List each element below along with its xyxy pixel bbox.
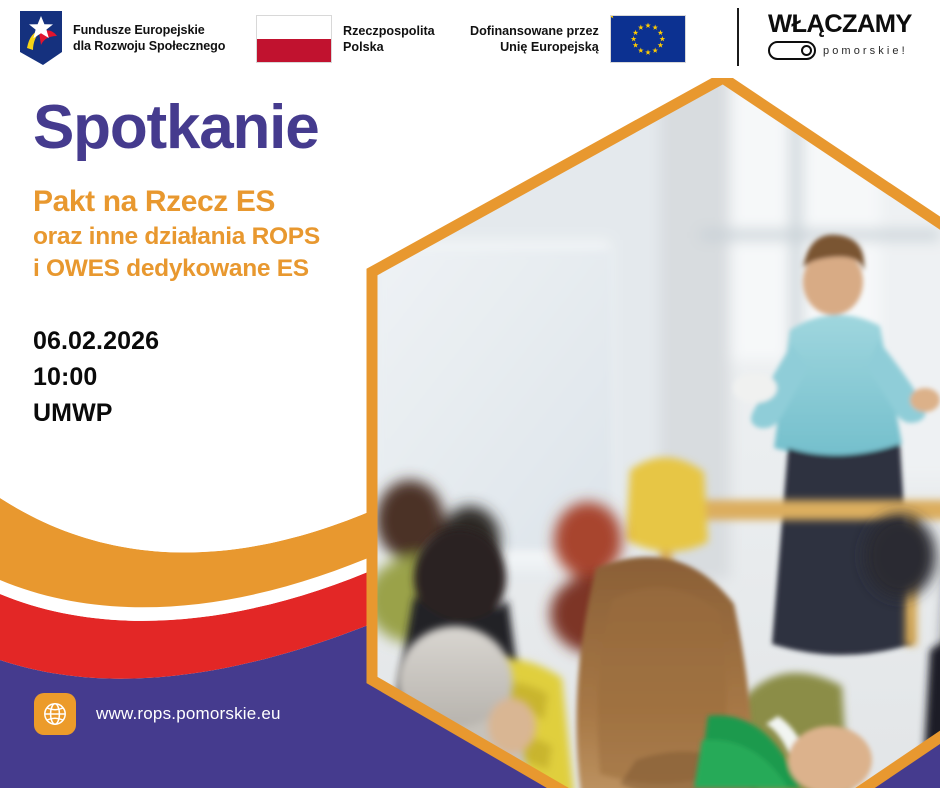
wlaczamy-wordmark: WŁĄCZAMY [768, 12, 927, 37]
eu-line2: Unię Europejską [470, 39, 599, 55]
logo-unia-europejska-text: Dofinansowane przez Unię Europejską [470, 23, 599, 55]
toggle-switch-icon [768, 41, 816, 60]
logo-fundusze-europejskie: Fundusze Europejskie dla Rozwoju Społecz… [18, 10, 225, 66]
logo-rzeczpospolita-polska-text: Rzeczpospolita Polska [343, 23, 435, 55]
logo-wlaczamy-pomorskie: WŁĄCZAMY pomorskie! [768, 12, 924, 60]
subtitle-primary: Pakt na Rzecz ES [33, 186, 383, 218]
logo-rzeczpospolita-polska: Rzeczpospolita Polska [256, 15, 435, 63]
fundusze-europejskie-mark [18, 10, 64, 66]
text-column: Spotkanie Pakt na Rzecz ES oraz inne dzi… [33, 96, 383, 431]
poster-canvas: Fundusze Europejskie dla Rozwoju Społecz… [0, 0, 940, 788]
pl-line1: Rzeczpospolita [343, 23, 435, 39]
globe-icon-glyph [42, 701, 68, 727]
website-url[interactable]: www.rops.pomorskie.eu [96, 704, 281, 724]
eu-stars [611, 16, 685, 62]
footer-website[interactable]: www.rops.pomorskie.eu [34, 693, 281, 735]
wlaczamy-toggle-row: pomorskie! [768, 41, 924, 60]
pomorskie-label: pomorskie! [823, 45, 908, 57]
eu-flag-icon [610, 15, 686, 63]
event-details: 06.02.2026 10:00 UMWP [33, 323, 383, 431]
poland-flag-white-stripe [257, 16, 331, 39]
event-place: UMWP [33, 395, 383, 431]
subtitle-line-2: oraz inne działania ROPS [33, 223, 383, 251]
poland-flag-icon [256, 15, 332, 63]
logo-header-bar: Fundusze Europejskie dla Rozwoju Społecz… [0, 0, 940, 78]
subtitle-line-3: i OWES dedykowane ES [33, 255, 383, 283]
event-date: 06.02.2026 [33, 323, 383, 359]
fe-line1: Fundusze Europejskie [73, 22, 225, 38]
pl-line2: Polska [343, 39, 435, 55]
globe-icon[interactable] [34, 693, 76, 735]
eu-line1: Dofinansowane przez [470, 23, 599, 39]
logo-unia-europejska: Dofinansowane przez Unię Europejską [470, 15, 686, 63]
logo-fundusze-europejskie-text: Fundusze Europejskie dla Rozwoju Społecz… [73, 22, 225, 54]
event-time: 10:00 [33, 359, 383, 395]
page-title: Spotkanie [33, 96, 383, 160]
poland-flag-red-stripe [257, 39, 331, 62]
fe-line2: dla Rozwoju Społecznego [73, 38, 225, 54]
header-divider [737, 8, 739, 66]
